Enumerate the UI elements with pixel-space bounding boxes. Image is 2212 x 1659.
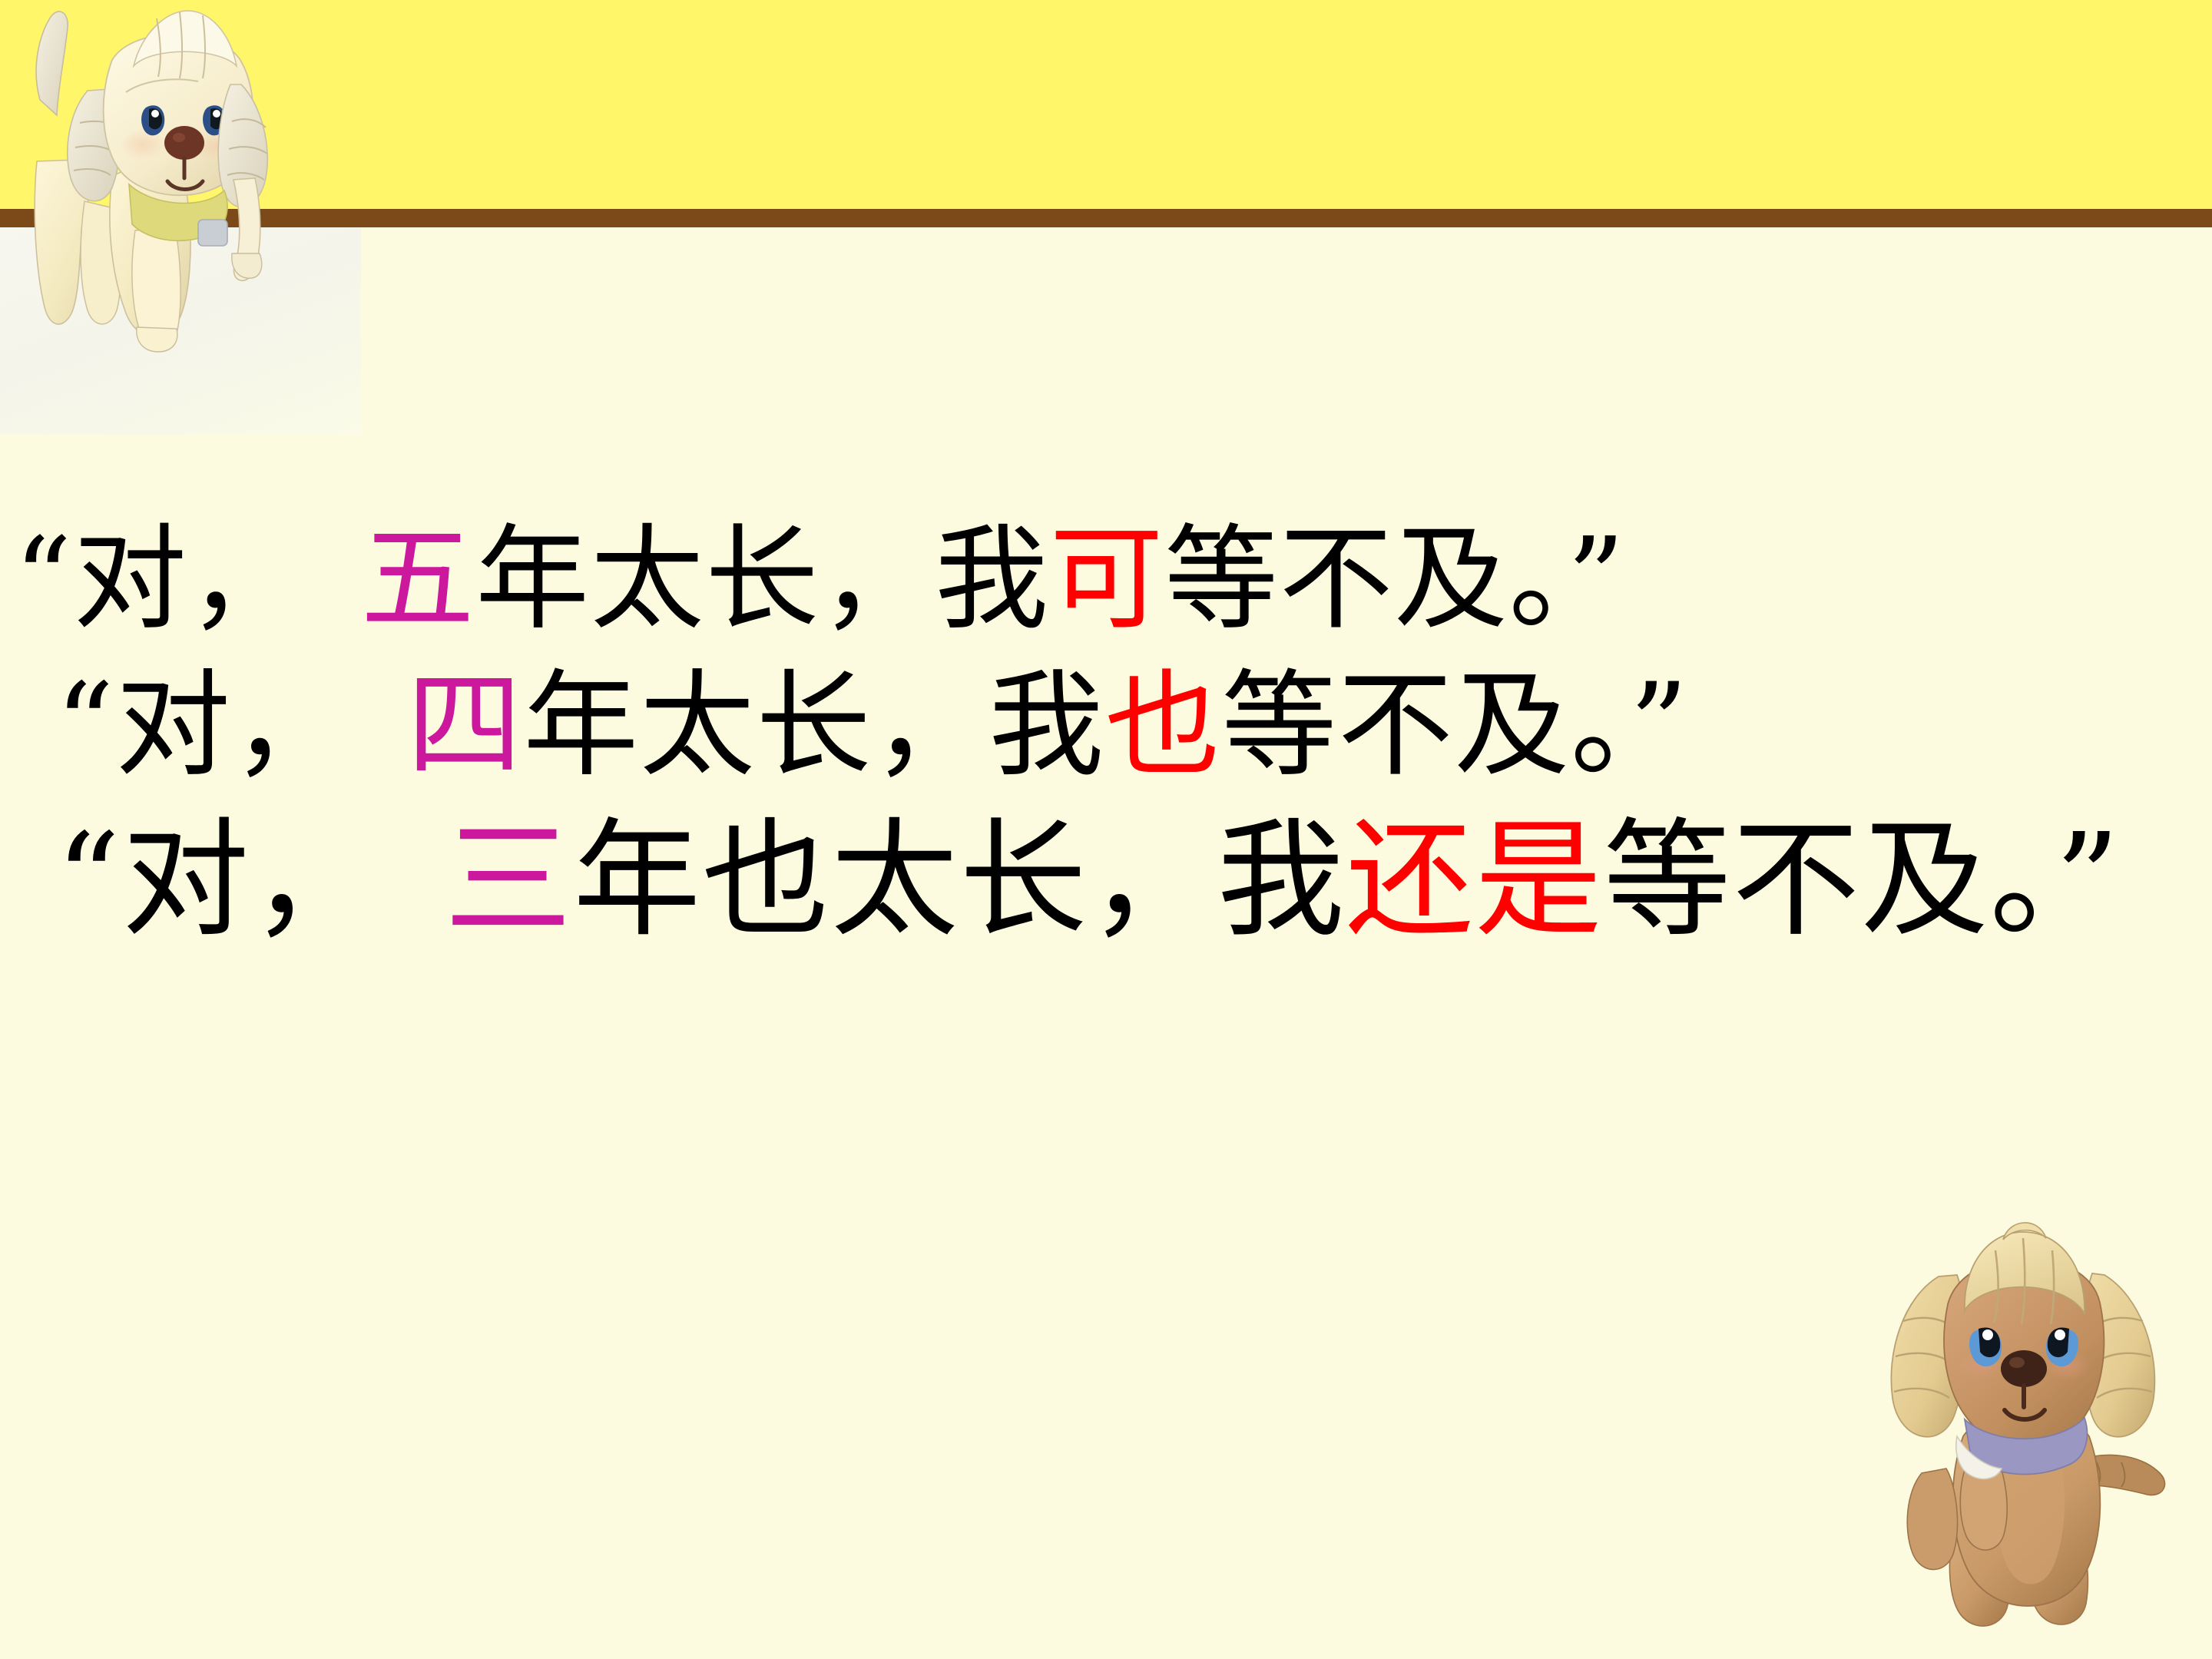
plush-puppy-cream-image bbox=[14, 0, 359, 430]
open-quote-3: “ bbox=[55, 806, 122, 955]
line-1-adverb-emphasis: 可 bbox=[1050, 513, 1164, 645]
puppy-nose bbox=[164, 126, 204, 160]
close-quote-1: ” bbox=[1567, 513, 1626, 645]
line-2-seg-2: 年太长，我 bbox=[523, 659, 1105, 793]
line-3-seg-0: 对， bbox=[122, 806, 445, 955]
quote-line-1: “对， 五年太长，我可等不及。” bbox=[0, 507, 2212, 652]
line-1-seg-4: 等不及。 bbox=[1164, 513, 1567, 645]
quote-line-3: “对， 三年也太长，我还是等不及。” bbox=[0, 800, 2212, 962]
line-2-seg-4: 等不及。 bbox=[1221, 659, 1629, 793]
line-1-seg-2: 年太长，我 bbox=[475, 513, 1049, 645]
line-2-adverb-emphasis: 也 bbox=[1105, 659, 1222, 793]
puppy-head bbox=[1944, 1223, 2104, 1450]
quote-text-block: “对， 五年太长，我可等不及。” “对， 四年太长，我也等不及。” “对， 三年… bbox=[0, 507, 2212, 963]
slide-canvas: “对， 五年太长，我可等不及。” “对， 四年太长，我也等不及。” “对， 三年… bbox=[0, 0, 2212, 1659]
puppy-nose bbox=[2001, 1350, 2047, 1387]
line-3-seg-2: 年也太长，我 bbox=[573, 806, 1346, 955]
close-quote-3: ” bbox=[2055, 806, 2121, 955]
puppy-front-paw bbox=[232, 178, 262, 280]
open-quote-1: “ bbox=[14, 513, 73, 645]
open-quote-2: “ bbox=[55, 659, 115, 793]
line-1-seg-0: 对， bbox=[73, 513, 360, 645]
close-quote-2: ” bbox=[1629, 659, 1689, 793]
line-2-seg-0: 对， bbox=[115, 659, 407, 793]
quote-line-2: “对， 四年太长，我也等不及。” bbox=[0, 652, 2212, 800]
line-3-number-emphasis: 三 bbox=[445, 806, 574, 955]
plush-puppy-tan-image bbox=[1866, 1206, 2197, 1651]
line-3-adverb-emphasis: 还是 bbox=[1346, 806, 1603, 955]
line-1-number-emphasis: 五 bbox=[361, 513, 475, 645]
line-3-seg-4: 等不及。 bbox=[1603, 806, 2055, 955]
line-2-number-emphasis: 四 bbox=[407, 659, 524, 793]
puppy-tail bbox=[36, 12, 68, 115]
